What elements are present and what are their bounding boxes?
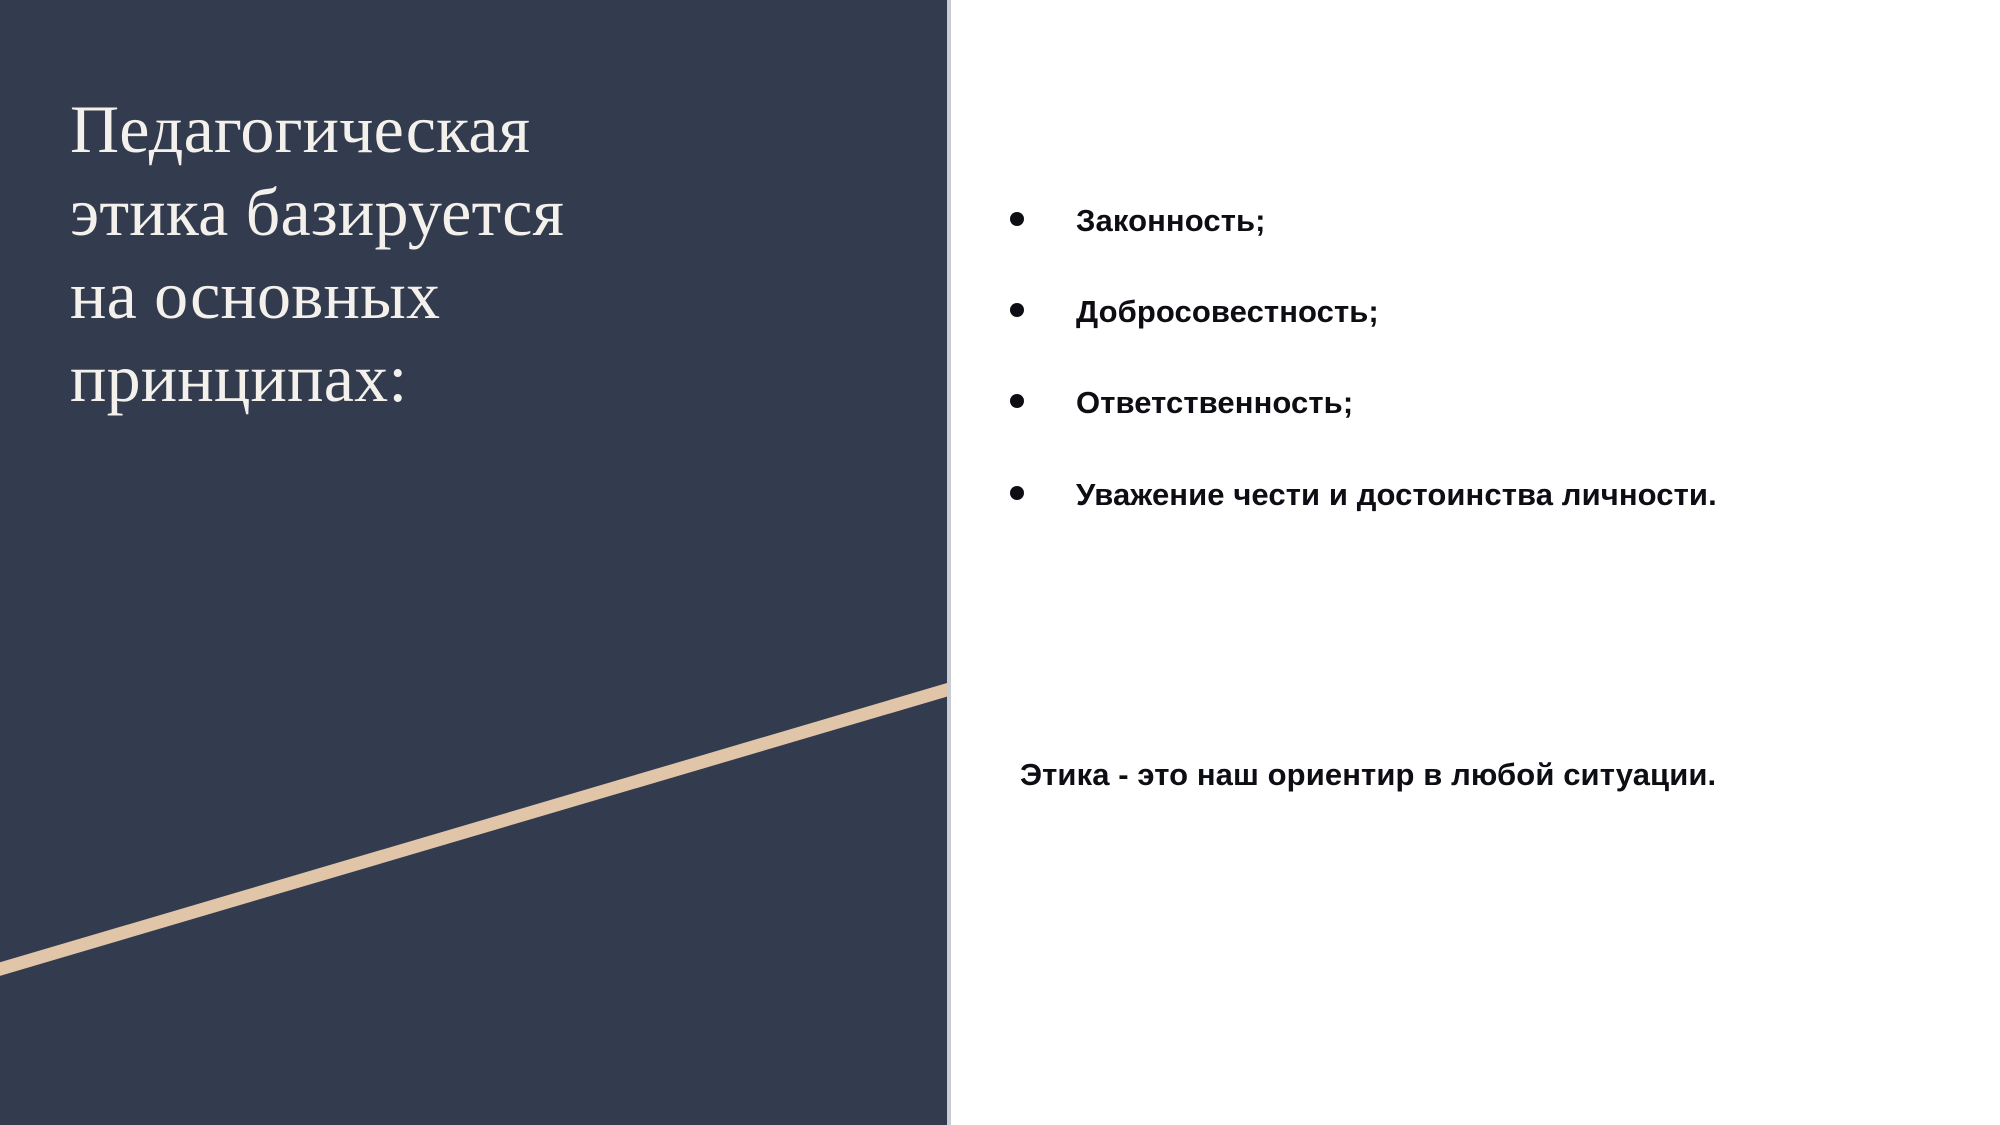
- list-item-label: Законность;: [1076, 196, 1840, 246]
- closing-note: Этика - это наш ориентир в любой ситуаци…: [1020, 750, 1810, 800]
- list-item: Уважение чести и достоинства личности.: [1010, 470, 1840, 520]
- list-item-label: Добросовестность;: [1076, 287, 1840, 337]
- bullet-dot-icon: [1010, 486, 1024, 500]
- panel-divider: [947, 0, 951, 1125]
- list-item: Добросовестность;: [1010, 287, 1840, 337]
- list-item-label: Ответственность;: [1076, 378, 1840, 428]
- bullet-dot-icon: [1010, 303, 1024, 317]
- bullet-dot-icon: [1010, 394, 1024, 408]
- list-item: Законность;: [1010, 196, 1840, 246]
- page-title: Педагогическая этика базируется на основ…: [70, 88, 890, 420]
- list-item: Ответственность;: [1010, 378, 1840, 428]
- principles-list: Законность; Добросовестность; Ответствен…: [1010, 196, 1840, 520]
- bullet-dot-icon: [1010, 212, 1024, 226]
- slide-canvas: Педагогическая этика базируется на основ…: [0, 0, 2000, 1125]
- title-panel: Педагогическая этика базируется на основ…: [0, 0, 947, 1125]
- content-panel: Законность; Добросовестность; Ответствен…: [1010, 0, 1910, 1125]
- list-item-label: Уважение чести и достоинства личности.: [1076, 470, 1840, 520]
